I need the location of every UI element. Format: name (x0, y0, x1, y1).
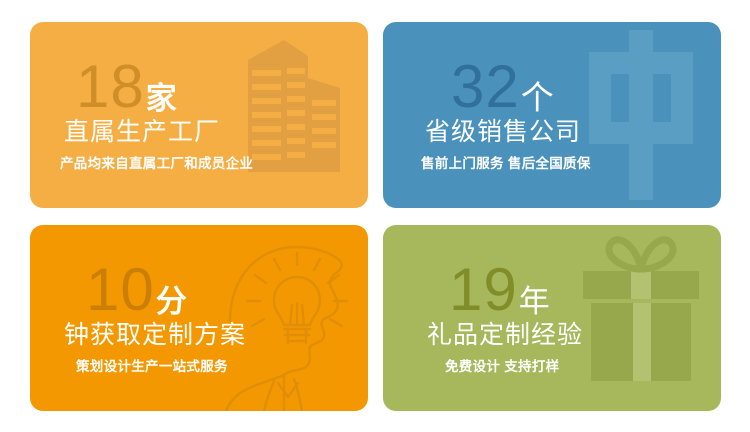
stat-subtitle: 产品均来自直属工厂和成员企业 (46, 156, 253, 172)
stat-card-years[interactable]: 19 年 礼品定制经验 免费设计 支持打样 (383, 225, 721, 411)
stat-unit: 个 (521, 81, 554, 114)
stat-subtitle: 售前上门服务 售后全国质保 (399, 156, 591, 172)
stat-card-grid: 18 家 直属生产工厂 产品均来自直属工厂和成员企业 (30, 22, 723, 411)
stat-number-line: 10 分 (46, 261, 187, 318)
stat-number: 19 (449, 261, 518, 318)
stat-number-line: 19 年 (399, 261, 550, 318)
stat-card-speed[interactable]: 10 分 钟获取定制方案 策划设计生产一站式服务 (30, 225, 368, 411)
stat-card-content: 32 个 省级销售公司 售前上门服务 售后全国质保 (383, 22, 721, 208)
stat-number: 10 (86, 261, 155, 318)
stat-number: 18 (76, 58, 145, 115)
stat-unit: 家 (146, 83, 177, 114)
stat-unit: 年 (519, 286, 550, 317)
stat-card-board: 18 家 直属生产工厂 产品均来自直属工厂和成员企业 (0, 0, 750, 432)
stat-subtitle: 策划设计生产一站式服务 (46, 359, 228, 375)
stat-card-factory[interactable]: 18 家 直属生产工厂 产品均来自直属工厂和成员企业 (30, 22, 368, 208)
stat-title: 钟获取定制方案 (46, 321, 246, 351)
stat-number-line: 18 家 (46, 58, 177, 115)
stat-title: 礼品定制经验 (399, 321, 583, 351)
stat-card-content: 18 家 直属生产工厂 产品均来自直属工厂和成员企业 (30, 22, 368, 208)
stat-unit: 分 (156, 286, 187, 317)
stat-card-content: 19 年 礼品定制经验 免费设计 支持打样 (383, 225, 721, 411)
stat-card-branch[interactable]: 32 个 省级销售公司 售前上门服务 售后全国质保 (383, 22, 721, 208)
stat-title: 省级销售公司 (399, 118, 581, 148)
stat-title: 直属生产工厂 (46, 118, 220, 148)
stat-number: 32 (451, 58, 520, 115)
stat-number-line: 32 个 (399, 58, 554, 115)
stat-card-content: 10 分 钟获取定制方案 策划设计生产一站式服务 (30, 225, 368, 411)
stat-subtitle: 免费设计 支持打样 (399, 359, 559, 375)
